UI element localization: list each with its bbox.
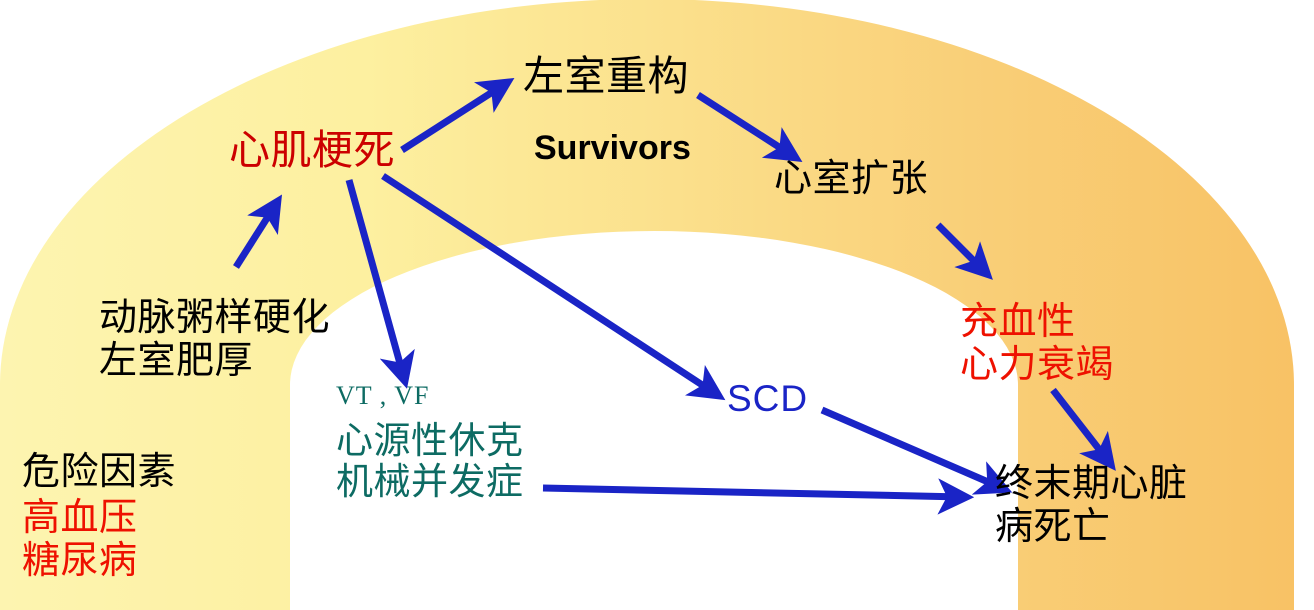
node-risk-factors-items: 高血压 糖尿病 xyxy=(22,496,138,581)
diagram-canvas: 心肌梗死 左室重构 Survivors 心室扩张 动脉粥样硬化 左室肥厚 危险因… xyxy=(0,0,1314,610)
node-cardiogenic-shock: 心源性休克 机械并发症 xyxy=(336,420,524,503)
node-lv-remodeling: 左室重构 xyxy=(523,54,689,100)
node-myocardial-infarction: 心肌梗死 xyxy=(229,128,395,174)
node-ventricular-dilation: 心室扩张 xyxy=(774,157,928,200)
node-survivors: Survivors xyxy=(534,129,691,167)
node-atherosclerosis: 动脉粥样硬化 左室肥厚 xyxy=(99,296,330,381)
node-end-stage-heart-disease: 终末期心脏 病死亡 xyxy=(995,462,1188,547)
node-vt-vf: VT , VF xyxy=(336,381,429,410)
node-risk-factors-title: 危险因素 xyxy=(22,450,176,493)
node-scd: SCD xyxy=(727,378,808,419)
node-congestive-heart-failure: 充血性 心力衰竭 xyxy=(960,300,1114,385)
